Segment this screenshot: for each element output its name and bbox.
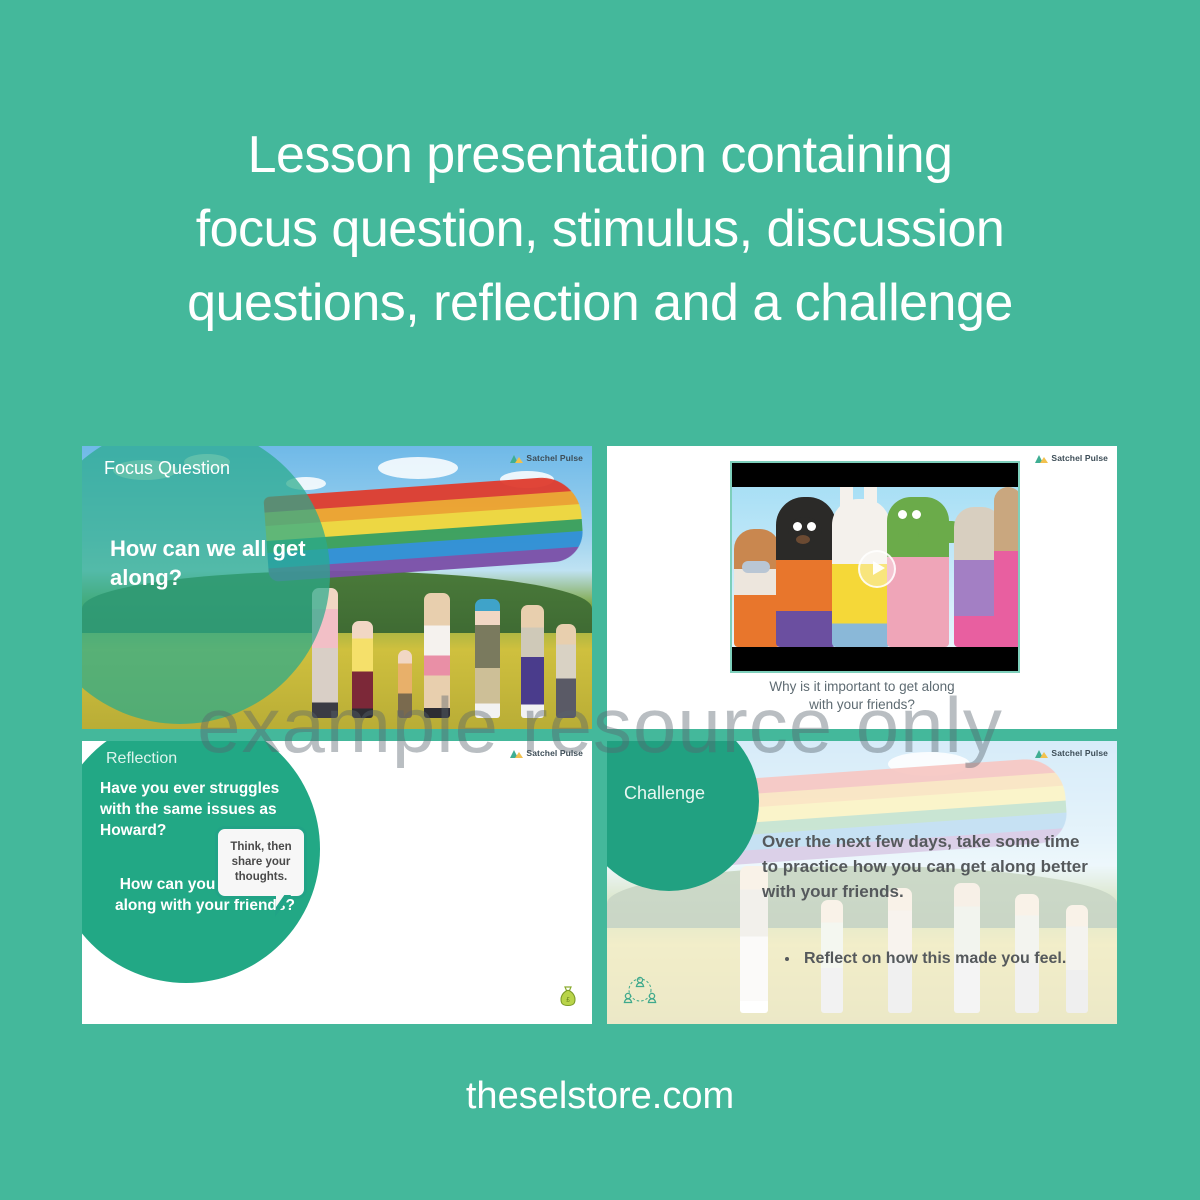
- group-people-icon: [623, 975, 657, 1010]
- speech-bubble-line-1: Think, then: [226, 840, 296, 855]
- stimulus-caption: Why is it important to get along with yo…: [607, 678, 1117, 714]
- satchel-pulse-logo: Satchel Pulse: [1035, 453, 1108, 463]
- satchel-pulse-logo: Satchel Pulse: [510, 748, 583, 758]
- brand-name: Satchel Pulse: [526, 453, 583, 463]
- stimulus-caption-line-1: Why is it important to get along: [607, 678, 1117, 696]
- satchel-pulse-logo: Satchel Pulse: [510, 453, 583, 463]
- slide-kicker-reflection: Reflection: [106, 750, 177, 768]
- slide-kicker-focus-question: Focus Question: [104, 458, 230, 479]
- money-bag-icon: £: [558, 985, 578, 1014]
- speech-bubble-line-3: thoughts.: [226, 870, 296, 885]
- brand-name: Satchel Pulse: [526, 748, 583, 758]
- slide-kicker-challenge: Challenge: [624, 783, 705, 804]
- slide-focus-question[interactable]: Focus Question How can we all get along?…: [82, 446, 592, 729]
- brand-name: Satchel Pulse: [1051, 748, 1108, 758]
- page-title-line-3: questions, reflection and a challenge: [100, 266, 1100, 340]
- challenge-body: Over the next few days, take some time t…: [762, 829, 1092, 904]
- site-url: theselstore.com: [0, 1075, 1200, 1118]
- slide-stimulus[interactable]: Why is it important to get along with yo…: [607, 446, 1117, 729]
- satchel-pulse-logo: Satchel Pulse: [1035, 748, 1108, 758]
- slide-reflection[interactable]: Reflection Have you ever struggles with …: [82, 741, 592, 1024]
- speech-bubble-line-2: share your: [226, 855, 296, 870]
- mountain-icon: [1035, 749, 1048, 758]
- brand-name: Satchel Pulse: [1051, 453, 1108, 463]
- play-icon[interactable]: [858, 550, 896, 588]
- list-item: Reflect on how this made you feel.: [800, 947, 1108, 970]
- slide-challenge[interactable]: Challenge Over the next few days, take s…: [607, 741, 1117, 1024]
- speech-bubble: Think, then share your thoughts.: [215, 826, 307, 899]
- mountain-icon: [510, 454, 523, 463]
- svg-text:£: £: [566, 997, 570, 1004]
- page-title: Lesson presentation containing focus que…: [0, 118, 1200, 340]
- mountain-icon: [1035, 454, 1048, 463]
- page-title-line-1: Lesson presentation containing: [100, 118, 1100, 192]
- page-title-line-2: focus question, stimulus, discussion: [100, 192, 1100, 266]
- slide-gallery: Focus Question How can we all get along?…: [82, 446, 1117, 1031]
- challenge-bullet-list: Reflect on how this made you feel.: [782, 947, 1108, 970]
- video-thumbnail[interactable]: [730, 461, 1020, 673]
- stimulus-caption-line-2: with your friends?: [607, 696, 1117, 714]
- mountain-icon: [510, 749, 523, 758]
- focus-question-text: How can we all get along?: [110, 534, 325, 592]
